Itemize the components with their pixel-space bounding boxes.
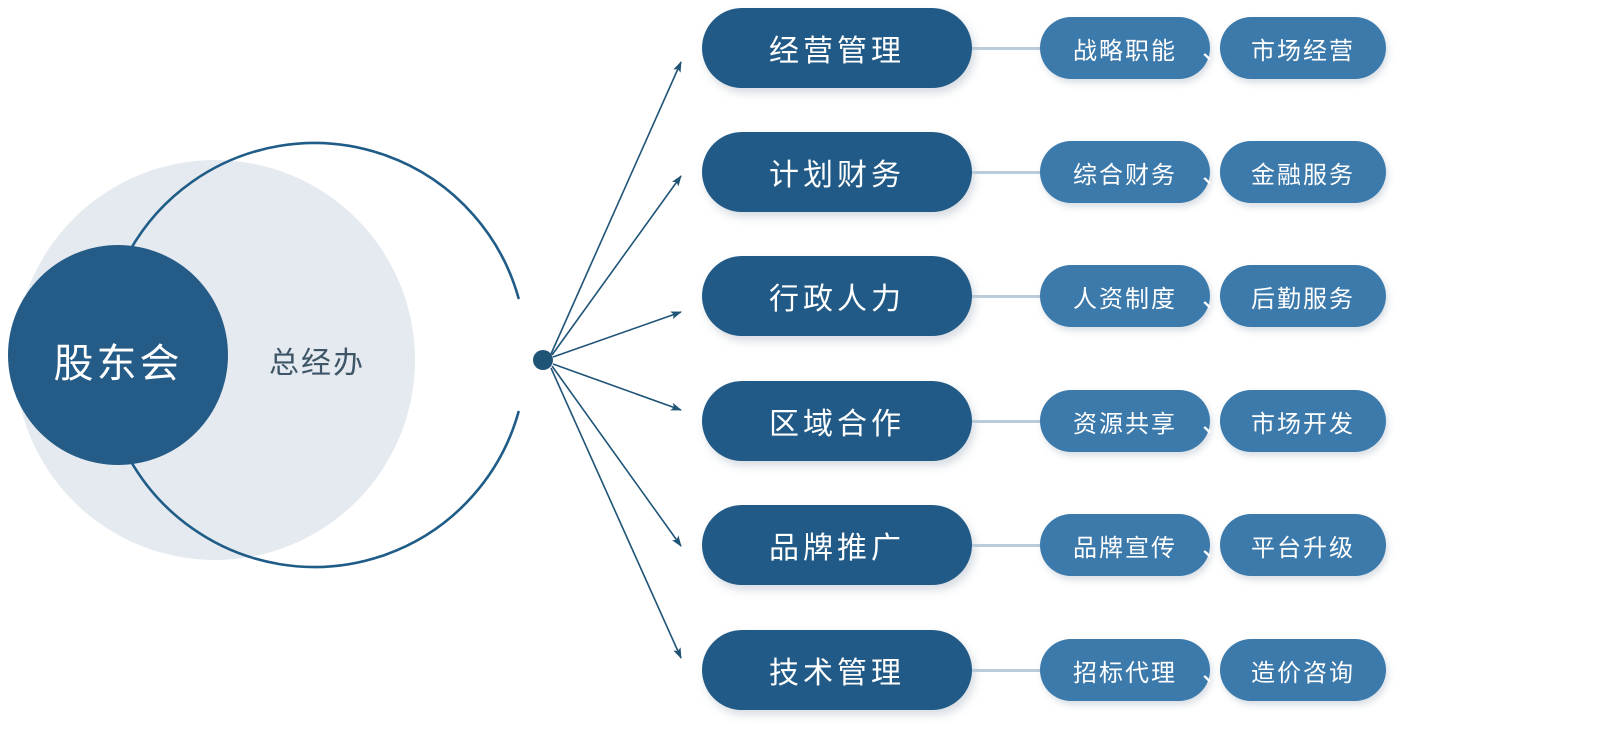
department-pill-5[interactable]: 品牌推广 <box>702 505 972 585</box>
department-pill-4[interactable]: 区域合作 <box>702 381 972 461</box>
sub-pill-1a[interactable]: 战略职能 <box>1040 17 1210 79</box>
separator-mark-5: 、 <box>1207 527 1223 564</box>
sub-pill-4a[interactable]: 资源共享 <box>1040 390 1210 452</box>
sub-pill-group-6: 招标代理 、 造价咨询 <box>1040 639 1386 701</box>
connector-line-4 <box>972 420 1040 423</box>
separator-mark-2: 、 <box>1207 154 1223 191</box>
separator-mark-6: 、 <box>1207 652 1223 689</box>
separator-mark-1: 、 <box>1207 30 1223 67</box>
sub-pill-2b[interactable]: 金融服务 <box>1220 141 1386 203</box>
sub-pill-6b[interactable]: 造价咨询 <box>1220 639 1386 701</box>
separator-mark-4: 、 <box>1207 403 1223 440</box>
department-pill-3[interactable]: 行政人力 <box>702 256 972 336</box>
department-pill-6[interactable]: 技术管理 <box>702 630 972 710</box>
department-pill-2[interactable]: 计划财务 <box>702 132 972 212</box>
table-row: 计划财务 综合财务 、 金融服务 <box>702 132 1386 212</box>
sub-pill-group-2: 综合财务 、 金融服务 <box>1040 141 1386 203</box>
connector-line-5 <box>972 544 1040 547</box>
sub-pill-1b[interactable]: 市场经营 <box>1220 17 1386 79</box>
department-rows: 经营管理 战略职能 、 市场经营 计划财务 综合财务 、 金融服务 行政人力 人… <box>0 0 1600 730</box>
sub-pill-3b[interactable]: 后勤服务 <box>1220 265 1386 327</box>
sub-pill-4b[interactable]: 市场开发 <box>1220 390 1386 452</box>
department-pill-1[interactable]: 经营管理 <box>702 8 972 88</box>
sub-pill-5a[interactable]: 品牌宣传 <box>1040 514 1210 576</box>
table-row: 区域合作 资源共享 、 市场开发 <box>702 381 1386 461</box>
table-row: 技术管理 招标代理 、 造价咨询 <box>702 630 1386 710</box>
table-row: 品牌推广 品牌宣传 、 平台升级 <box>702 505 1386 585</box>
connector-line-6 <box>972 669 1040 672</box>
sub-pill-group-5: 品牌宣传 、 平台升级 <box>1040 514 1386 576</box>
separator-mark-3: 、 <box>1207 278 1223 315</box>
org-chart-diagram: 股东会 总经办 经营管理 战略职能 、 市场经营 计划财务 综合财务 、 金融服… <box>0 0 1600 730</box>
table-row: 经营管理 战略职能 、 市场经营 <box>702 8 1386 88</box>
sub-pill-group-4: 资源共享 、 市场开发 <box>1040 390 1386 452</box>
sub-pill-6a[interactable]: 招标代理 <box>1040 639 1210 701</box>
sub-pill-3a[interactable]: 人资制度 <box>1040 265 1210 327</box>
connector-line-3 <box>972 295 1040 298</box>
sub-pill-5b[interactable]: 平台升级 <box>1220 514 1386 576</box>
sub-pill-group-1: 战略职能 、 市场经营 <box>1040 17 1386 79</box>
sub-pill-2a[interactable]: 综合财务 <box>1040 141 1210 203</box>
connector-line-1 <box>972 47 1040 50</box>
sub-pill-group-3: 人资制度 、 后勤服务 <box>1040 265 1386 327</box>
connector-line-2 <box>972 171 1040 174</box>
table-row: 行政人力 人资制度 、 后勤服务 <box>702 256 1386 336</box>
